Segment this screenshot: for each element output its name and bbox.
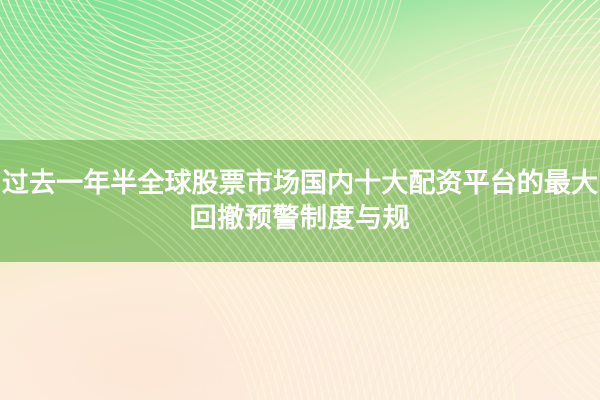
headline-line-1: 过去一年半全球股票市场国内十大配资平台的最大 [2, 170, 598, 197]
headline-line-2: 回撤预警制度与规 [190, 205, 411, 232]
article-banner: 过去一年半全球股票市场国内十大配资平台的最大 回撤预警制度与规 [0, 0, 600, 400]
headline: 过去一年半全球股票市场国内十大配资平台的最大 回撤预警制度与规 [0, 140, 600, 262]
